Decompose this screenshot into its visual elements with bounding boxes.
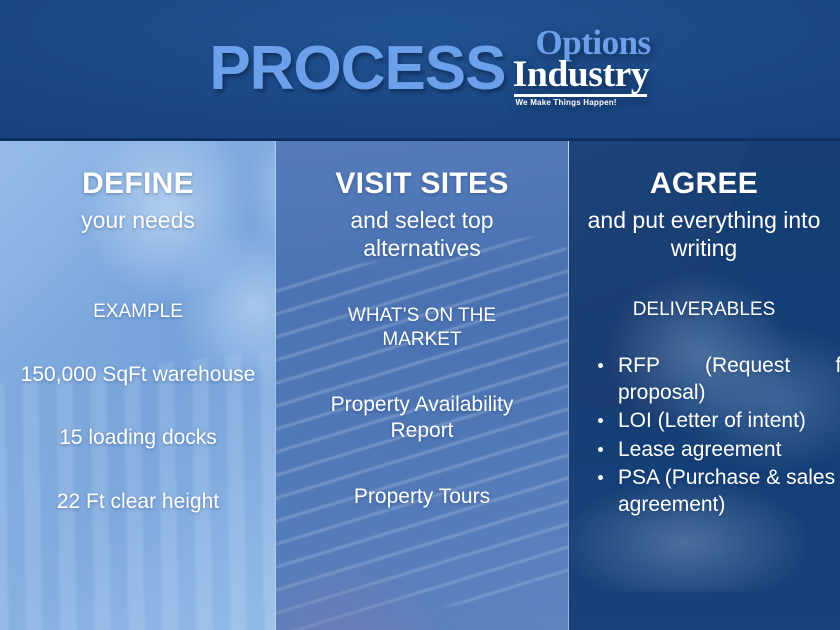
visit-sites-item-2: Property Tours — [276, 484, 568, 510]
agree-bullet-2: LOI (Letter of intent) — [618, 409, 806, 432]
process-infographic-slide: PROCESS Options Industry We Make Things … — [0, 0, 840, 630]
visit-sites-heading: VISIT SITES — [276, 167, 568, 200]
column-divider-1 — [275, 141, 276, 630]
visit-sites-content: VISIT SITES and select top alternatives … — [276, 141, 568, 630]
process-step-agree: AGREE and put everything into writing DE… — [568, 141, 840, 630]
column-divider-2 — [568, 141, 569, 630]
agree-subheading: and put everything into writing — [568, 206, 840, 262]
process-step-visit-sites: VISIT SITES and select top alternatives … — [276, 141, 568, 630]
process-step-define: DEFINE your needs EXAMPLE 150,000 SqFt w… — [0, 141, 276, 630]
agree-bullet-1: RFP (Request for proposal) — [618, 352, 840, 407]
logo-tagline: We Make Things Happen! — [516, 99, 617, 107]
visit-sites-subheading: and select top alternatives — [276, 206, 568, 262]
list-item: RFP (Request for proposal) — [594, 352, 840, 407]
header-inner: PROCESS Options Industry We Make Things … — [0, 0, 840, 141]
visit-sites-item-1: Property Availability Report — [276, 392, 568, 445]
define-item-2: 15 loading docks — [0, 425, 276, 451]
define-subheading: your needs — [0, 206, 276, 234]
agree-label: DELIVERABLES — [568, 298, 840, 322]
visit-sites-label: WHAT’S ON THE MARKET — [276, 304, 568, 352]
agree-bullet-3: Lease agreement — [618, 438, 781, 461]
page-title: PROCESS — [209, 38, 505, 100]
agree-bullet-4: PSA (Purchase & sales agreement) — [618, 466, 835, 516]
list-item: LOI (Letter of intent) — [594, 407, 840, 434]
agree-content: AGREE and put everything into writing DE… — [568, 141, 840, 630]
define-item-1: 150,000 SqFt warehouse — [0, 362, 276, 388]
agree-deliverables-list: RFP (Request for proposal) LOI (Letter o… — [568, 352, 840, 519]
agree-heading: AGREE — [568, 167, 840, 200]
define-content: DEFINE your needs EXAMPLE 150,000 SqFt w… — [0, 141, 276, 630]
process-columns: DEFINE your needs EXAMPLE 150,000 SqFt w… — [0, 141, 840, 630]
logo-word-industry: Industry — [512, 56, 648, 93]
define-heading: DEFINE — [0, 167, 276, 200]
define-item-3: 22 Ft clear height — [0, 489, 276, 515]
logo-industry-block: Industry — [514, 56, 648, 97]
list-item: PSA (Purchase & sales agreement) — [594, 464, 840, 519]
options-industry-logo: Options Industry We Make Things Happen! — [514, 26, 651, 107]
header-bar: PROCESS Options Industry We Make Things … — [0, 0, 840, 141]
list-item: Lease agreement — [594, 436, 840, 463]
define-label: EXAMPLE — [0, 300, 276, 324]
